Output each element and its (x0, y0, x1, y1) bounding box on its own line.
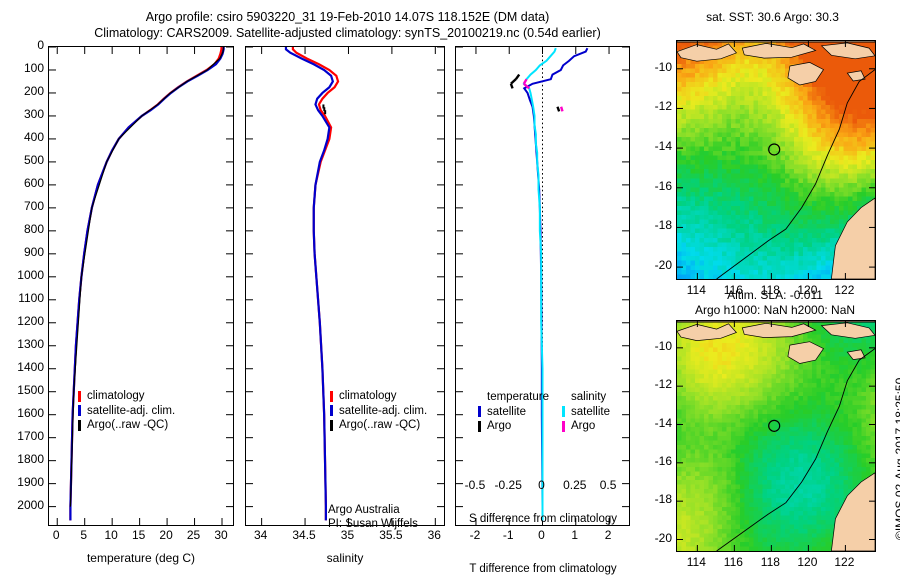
axis-tick-label: 1600 (4, 406, 44, 420)
legend-swatch-temp-satellite-icon (478, 406, 481, 417)
legend-swatch-climatology-icon (78, 391, 81, 402)
legend-item-salinity-climatology: climatology (330, 389, 427, 404)
axis-tick-label: 34 (237, 528, 285, 542)
axis-tick-label: 30 (201, 528, 241, 542)
temperature-axis-title: temperature (deg C) (48, 551, 234, 565)
legend-swatch-argo-icon (330, 420, 333, 431)
axis-tick-label: 1500 (4, 383, 44, 397)
axis-tick-label: -10 (640, 60, 672, 74)
salinity-profile-panel[interactable] (245, 46, 445, 526)
legend-heading-salinity: salinity (571, 390, 610, 405)
axis-tick-label: 300 (4, 107, 44, 121)
sst-map-panel[interactable] (676, 40, 876, 280)
axis-tick-label: 1700 (4, 429, 44, 443)
axis-tick-label: -20 (640, 258, 672, 272)
difference-plot-area (456, 47, 629, 525)
axis-tick-label: 120 (787, 555, 827, 569)
figure-title-line2: Climatology: CARS2009. Satellite-adjuste… (40, 26, 655, 41)
argo-program-credit: Argo Australia PI: Susan Wijffels (328, 503, 418, 531)
legend-item-salinity-argo: Argo(..raw -QC) (330, 418, 427, 433)
legend-label-climatology: climatology (339, 389, 397, 404)
legend-swatch-climatology-icon (330, 391, 333, 402)
axis-tick-label: 0 (4, 38, 44, 52)
axis-tick-label: -12 (640, 377, 672, 391)
axis-tick-label: -14 (640, 416, 672, 430)
temperature-legend: climatology satellite-adj. clim. Argo(..… (78, 389, 175, 433)
salinity-difference-satellite-line (524, 48, 556, 520)
axis-tick-label: 118 (750, 555, 790, 569)
legend-item-sal-satellite: satellite (562, 405, 610, 420)
temperature-profile-panel[interactable] (48, 46, 234, 526)
imos-copyright: ©IMOS 02-Aug-2017 18:25:50 (893, 378, 900, 540)
legend-item-temp-argo: Argo (478, 419, 549, 434)
axis-tick-label: -16 (640, 179, 672, 193)
axis-tick-label: -16 (640, 454, 672, 468)
credit-line-pi: PI: Susan Wijffels (328, 517, 418, 531)
legend-label-sal-argo: Argo (571, 419, 595, 434)
legend-item-climatology: climatology (78, 389, 175, 404)
axis-tick-label: 116 (713, 555, 753, 569)
legend-swatch-argo-icon (78, 420, 81, 431)
axis-tick-label: 700 (4, 199, 44, 213)
sla-map-title-line2: Argo h1000: NaN h2000: NaN (660, 303, 890, 317)
sst-map-image (677, 41, 875, 279)
axis-tick-label: 1000 (4, 268, 44, 282)
sla-map-panel[interactable] (676, 320, 876, 552)
temperature-climatology-line (70, 47, 221, 520)
axis-tick-label: 122 (824, 555, 864, 569)
legend-item-salinity-satellite: satellite-adj. clim. (330, 404, 427, 419)
legend-label-satellite-adj: satellite-adj. clim. (339, 404, 427, 419)
difference-legend-temperature: temperature satellite Argo (478, 390, 549, 434)
sla-map-title-line1: Altim. SLA: -0.011 (670, 288, 880, 302)
figure-title-line1: Argo profile: csiro 5903220_31 19-Feb-20… (60, 10, 635, 25)
axis-tick-label: 1800 (4, 452, 44, 466)
temperature-difference-axis-title: T difference from climatology (448, 563, 638, 575)
legend-item-argo: Argo(..raw -QC) (78, 418, 175, 433)
legend-swatch-satellite-icon (78, 405, 81, 416)
legend-item-satellite-adj: satellite-adj. clim. (78, 404, 175, 419)
axis-tick-label: 600 (4, 176, 44, 190)
axis-tick-label: 800 (4, 222, 44, 236)
legend-label-argo: Argo(..raw -QC) (339, 418, 420, 433)
axis-tick-label: -18 (640, 218, 672, 232)
axis-tick-label: 1100 (4, 291, 44, 305)
legend-swatch-temp-argo-icon (478, 421, 481, 432)
axis-tick-label: 2000 (4, 498, 44, 512)
axis-tick-label: 114 (676, 555, 716, 569)
salinity-legend: climatology satellite-adj. clim. Argo(..… (330, 389, 427, 433)
axis-tick-label: 200 (4, 84, 44, 98)
sst-map-title: sat. SST: 30.6 Argo: 30.3 (665, 10, 880, 24)
credit-line-program: Argo Australia (328, 503, 418, 517)
salinity-difference-axis-title: S difference from climatology (448, 513, 638, 525)
axis-tick-label: 500 (4, 153, 44, 167)
legend-item-temp-satellite: satellite (478, 405, 549, 420)
legend-swatch-satellite-icon (330, 405, 333, 416)
axis-tick-label: 1200 (4, 314, 44, 328)
legend-label-sal-satellite: satellite (571, 405, 610, 420)
sla-map-image (677, 321, 875, 551)
legend-label-climatology: climatology (87, 389, 145, 404)
legend-label-satellite-adj: satellite-adj. clim. (87, 404, 175, 419)
salinity-difference-argo-marks (524, 79, 563, 111)
axis-tick-label: -18 (640, 492, 672, 506)
legend-item-sal-argo: Argo (562, 419, 610, 434)
difference-profile-panel[interactable] (455, 46, 630, 526)
legend-label-temp-satellite: satellite (487, 405, 526, 420)
axis-tick-label: 1400 (4, 360, 44, 374)
temperature-satellite-line (70, 47, 223, 520)
axis-tick-label: 2 (588, 528, 628, 542)
temperature-plot-area (49, 47, 233, 525)
salinity-climatology-line (293, 47, 338, 520)
axis-tick-label: -12 (640, 99, 672, 113)
legend-swatch-sal-satellite-icon (562, 406, 565, 417)
legend-label-temp-argo: Argo (487, 419, 511, 434)
figure-canvas: Argo profile: csiro 5903220_31 19-Feb-20… (0, 0, 900, 580)
difference-legend-salinity: salinity satellite Argo (562, 390, 610, 434)
axis-tick-label: 1300 (4, 337, 44, 351)
legend-label-argo: Argo(..raw -QC) (87, 418, 168, 433)
temperature-difference-argo-marks (511, 75, 559, 112)
axis-tick-label: 100 (4, 61, 44, 75)
axis-tick-label: -20 (640, 531, 672, 545)
temperature-argo-line (70, 47, 223, 507)
axis-tick-label: 900 (4, 245, 44, 259)
axis-tick-label: -14 (640, 139, 672, 153)
axis-tick-label: 0.5 (584, 478, 632, 492)
axis-tick-label: 34.5 (280, 528, 328, 542)
legend-swatch-sal-argo-icon (562, 421, 565, 432)
axis-tick-label: -10 (640, 339, 672, 353)
axis-tick-label: 1900 (4, 475, 44, 489)
salinity-axis-title: salinity (245, 551, 445, 565)
salinity-plot-area (246, 47, 444, 525)
axis-tick-label: 400 (4, 130, 44, 144)
legend-heading-temperature: temperature (487, 390, 549, 405)
